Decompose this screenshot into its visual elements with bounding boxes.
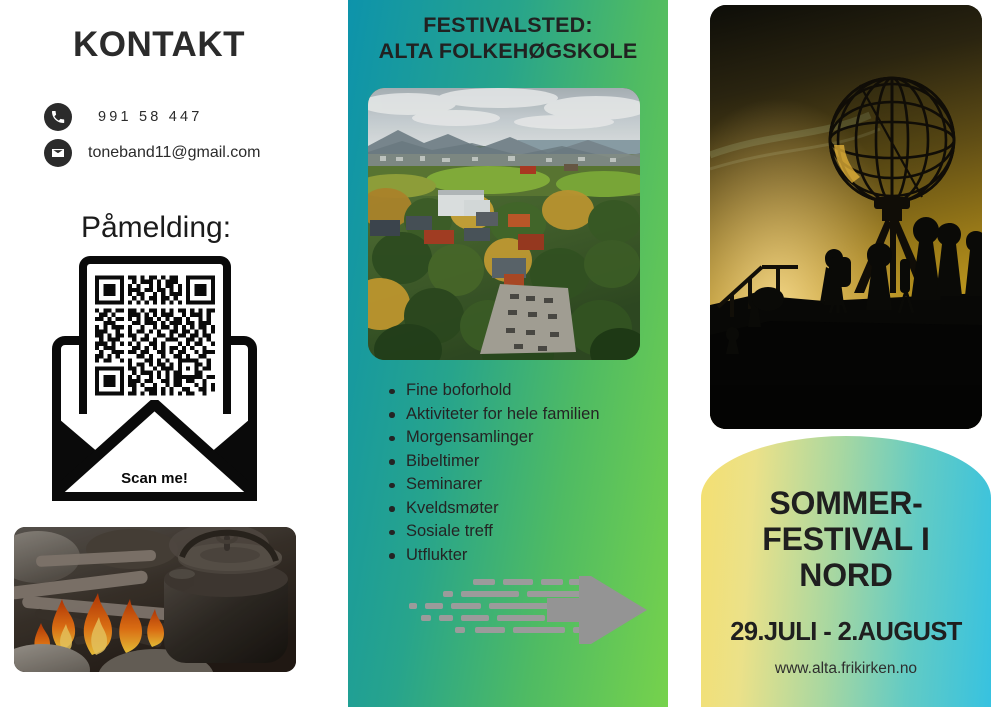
aerial-view-alta-folkehogskole-photo: [368, 88, 640, 360]
venue-features-list: Fine boforhold Aktiviteter for hele fami…: [384, 379, 686, 567]
page-title-kontakt: KONTAKT: [0, 25, 318, 65]
list-item: Aktiviteter for hele familien: [406, 403, 686, 427]
contact-row-email: toneband11@gmail.com: [44, 139, 261, 167]
signup-heading: Påmelding:: [0, 211, 312, 245]
email-address: toneband11@gmail.com: [88, 144, 261, 162]
festival-title: SOMMER- FESTIVAL I NORD: [715, 486, 977, 593]
festival-title-line1: SOMMER-: [715, 486, 977, 522]
motion-arrow-right-icon: [403, 572, 648, 648]
festival-website[interactable]: www.alta.frikirken.no: [715, 660, 977, 678]
list-item: Sosiale treff: [406, 520, 686, 544]
open-envelope-icon[interactable]: Scan me!: [52, 256, 257, 501]
list-item: Morgensamlinger: [406, 426, 686, 450]
festival-title-line3: NORD: [715, 558, 977, 594]
qr-caption: Scan me!: [52, 470, 257, 487]
envelope-icon: [44, 139, 72, 167]
festival-title-line2: FESTIVAL I: [715, 522, 977, 558]
venue-title-line1: FESTIVALSTED:: [358, 12, 658, 38]
nordkapp-globe-monument-sunset-photo: [710, 5, 982, 429]
hero-panel: SOMMER- FESTIVAL I NORD 29.JULI - 2.AUGU…: [668, 0, 1000, 707]
campfire-with-kettle-photo: [14, 527, 296, 672]
venue-title: FESTIVALSTED: ALTA FOLKEHØGSKOLE: [358, 12, 658, 64]
venue-title-line2: ALTA FOLKEHØGSKOLE: [358, 38, 658, 64]
list-item: Bibeltimer: [406, 450, 686, 474]
qr-paper: [79, 256, 231, 414]
festival-dates: 29.JULI - 2.AUGUST: [709, 618, 983, 647]
contact-row-phone: 991 58 447: [44, 103, 203, 131]
qr-code-icon[interactable]: [95, 275, 215, 396]
venue-panel: FESTIVALSTED: ALTA FOLKEHØGSKOLE: [348, 0, 668, 707]
phone-icon: [44, 103, 72, 131]
list-item: Utflukter: [406, 544, 686, 568]
list-item: Seminarer: [406, 473, 686, 497]
festival-arch-card: SOMMER- FESTIVAL I NORD 29.JULI - 2.AUGU…: [701, 436, 991, 707]
contact-panel: KONTAKT 991 58 447 toneband11@gmail.com …: [0, 0, 340, 707]
list-item: Fine boforhold: [406, 379, 686, 403]
list-item: Kveldsmøter: [406, 497, 686, 521]
phone-number: 991 58 447: [98, 109, 203, 125]
